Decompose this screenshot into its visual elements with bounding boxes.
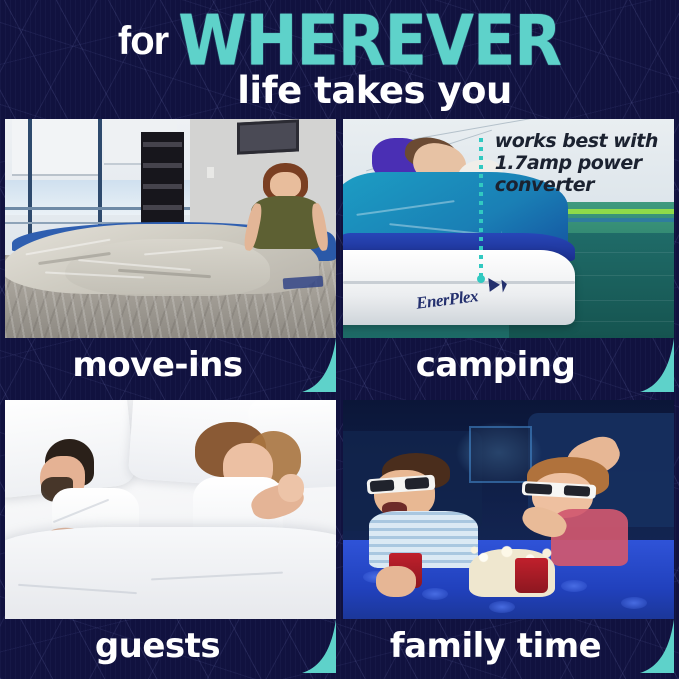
feature-card-guests[interactable]: guests bbox=[5, 400, 336, 673]
photo-family-time bbox=[343, 400, 674, 619]
caption-bar-guests: guests bbox=[5, 619, 336, 673]
callout-line-3: converter bbox=[495, 174, 665, 196]
caption-label: family time bbox=[343, 619, 674, 673]
photo-camping: EnerPlex works best with 1.7amp power co… bbox=[343, 119, 674, 338]
photo-move-ins bbox=[5, 119, 336, 338]
caption-bar-camping: camping bbox=[343, 338, 674, 392]
headline-prefix: for bbox=[118, 19, 168, 63]
white-duvet bbox=[5, 527, 336, 619]
lens-right bbox=[405, 477, 430, 489]
hand bbox=[278, 474, 303, 502]
callout-line-1: works best with bbox=[495, 130, 665, 152]
teal-dotted-leader-line bbox=[479, 138, 483, 279]
feature-card-camping[interactable]: EnerPlex works best with 1.7amp power co… bbox=[343, 119, 674, 392]
striped-shirt bbox=[369, 511, 477, 567]
lens-right bbox=[563, 485, 590, 497]
headline-line-2: life takes you bbox=[0, 72, 679, 109]
teal-accent-swoosh bbox=[302, 338, 336, 392]
caption-label: guests bbox=[5, 619, 336, 673]
caption-bar-move-ins: move-ins bbox=[5, 338, 336, 392]
feature-card-move-ins[interactable]: move-ins bbox=[5, 119, 336, 392]
wall-picture-frame bbox=[237, 120, 299, 156]
caption-label: move-ins bbox=[5, 338, 336, 392]
teal-accent-swoosh bbox=[640, 338, 674, 392]
feature-grid: move-ins bbox=[5, 119, 674, 674]
lens-left bbox=[369, 480, 394, 492]
teal-dot-endpoint bbox=[477, 275, 485, 283]
headline-emphasis: WHEREVER bbox=[178, 6, 561, 75]
caption-bar-family-time: family time bbox=[343, 619, 674, 673]
teal-accent-swoosh bbox=[640, 619, 674, 673]
boy-hand bbox=[376, 566, 416, 597]
window-blind-left bbox=[12, 119, 98, 176]
lens-left bbox=[524, 483, 551, 495]
power-converter-callout: works best with 1.7amp power converter bbox=[479, 130, 668, 331]
woman-figure bbox=[250, 163, 323, 255]
feature-card-family-time[interactable]: family time bbox=[343, 400, 674, 673]
header: forWHEREVER life takes you bbox=[0, 0, 679, 119]
red-cup-right bbox=[515, 558, 548, 593]
headline-line-1: forWHEREVER bbox=[0, 10, 679, 72]
face bbox=[270, 172, 301, 198]
photo-guests bbox=[5, 400, 336, 619]
callout-text: works best with 1.7amp power converter bbox=[495, 130, 665, 196]
callout-line-2: 1.7amp power bbox=[495, 152, 665, 174]
product-feature-poster: forWHEREVER life takes you bbox=[0, 0, 679, 679]
mattress-tuft bbox=[561, 580, 587, 592]
caption-label: camping bbox=[343, 338, 674, 392]
teal-accent-swoosh bbox=[302, 619, 336, 673]
olive-tshirt bbox=[251, 196, 321, 249]
mattress-logo-mark bbox=[283, 275, 323, 289]
light-switch bbox=[207, 167, 214, 178]
